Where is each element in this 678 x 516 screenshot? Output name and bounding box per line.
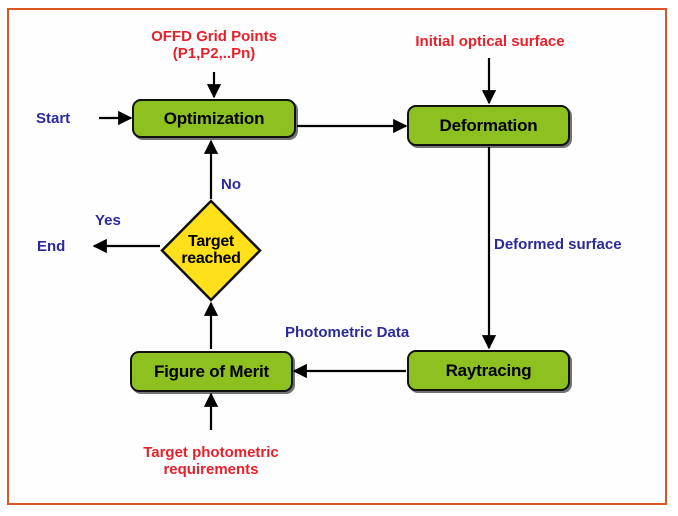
edge-label-yes: Yes (95, 212, 121, 229)
terminal-start: Start (36, 110, 70, 127)
node-target-reached[interactable]: Target reached (159, 198, 263, 303)
edge-label-deformed-surface-text: Deformed surface (494, 236, 622, 253)
initial-optical-surface-text: Initial optical surface (389, 33, 591, 50)
offd-line1: OFFD Grid Points (114, 28, 314, 45)
terminal-end: End (37, 238, 65, 255)
figure-border (7, 8, 667, 505)
edge-label-yes-text: Yes (95, 212, 121, 229)
edge-label-deformed-surface: Deformed surface (494, 236, 622, 253)
node-target-reached-label: Target reached (159, 198, 263, 303)
node-raytracing[interactable]: Raytracing (407, 350, 570, 391)
node-target-reached-line1: Target (188, 234, 234, 251)
edge-label-photometric-data-text: Photometric Data (285, 324, 409, 341)
input-label-initial-optical-surface: Initial optical surface (389, 33, 591, 50)
node-raytracing-label: Raytracing (446, 361, 532, 381)
node-figure-of-merit-label: Figure of Merit (154, 362, 269, 382)
input-label-target-photometric-requirements: Target photometric requirements (111, 444, 311, 479)
terminal-end-label: End (37, 238, 65, 255)
node-optimization-label: Optimization (164, 109, 265, 129)
node-optimization[interactable]: Optimization (132, 99, 296, 138)
edge-label-no-text: No (221, 176, 241, 193)
terminal-start-label: Start (36, 110, 70, 127)
input-label-offd-grid-points: OFFD Grid Points (P1,P2,..Pn) (114, 28, 314, 63)
edge-label-photometric-data: Photometric Data (285, 324, 409, 341)
node-target-reached-line2: reached (181, 251, 240, 268)
node-figure-of-merit[interactable]: Figure of Merit (130, 351, 293, 392)
target-photometric-line1: Target photometric (111, 444, 311, 461)
node-deformation[interactable]: Deformation (407, 105, 570, 146)
target-photometric-line2: requirements (111, 461, 311, 478)
node-deformation-label: Deformation (440, 116, 538, 136)
flowchart-figure: Optimization Deformation Raytracing Figu… (0, 0, 678, 516)
edge-label-no: No (221, 176, 241, 193)
offd-line2: (P1,P2,..Pn) (114, 45, 314, 62)
